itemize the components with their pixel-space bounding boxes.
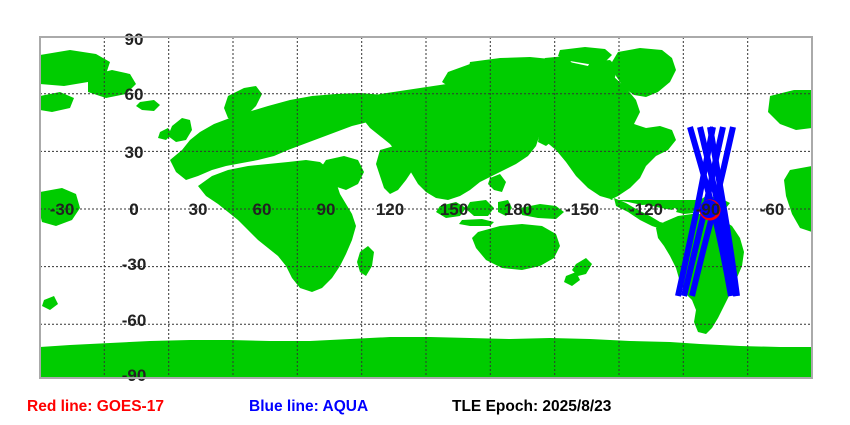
lon-label: -60 — [760, 200, 785, 219]
legend-blue-line: Blue line: AQUA — [249, 396, 368, 418]
lon-label: 90 — [317, 200, 336, 219]
lon-label: -30 — [50, 200, 75, 219]
lon-label: -90 — [696, 200, 721, 219]
lon-label: 180 — [504, 200, 532, 219]
lat-label: -60 — [122, 311, 147, 330]
lat-label: 0 — [129, 200, 138, 219]
world-map-svg: -30 0 30 60 90 120 150 180 -150 -120 -90… — [0, 0, 850, 425]
lat-label: 30 — [125, 143, 144, 162]
tle-epoch-label: TLE Epoch: — [452, 398, 542, 415]
tle-epoch-value: 2025/8/23 — [542, 398, 611, 415]
legend-blue-prefix: Blue line: — [249, 398, 323, 415]
lon-label: 120 — [376, 200, 404, 219]
lon-label: -150 — [565, 200, 599, 219]
legend-red-satellite: GOES-17 — [97, 398, 164, 415]
legend-tle-epoch: TLE Epoch: 2025/8/23 — [452, 396, 611, 418]
legend-blue-satellite: AQUA — [323, 398, 369, 415]
lon-label: 60 — [253, 200, 272, 219]
legend-red-line: Red line: GOES-17 — [27, 396, 164, 418]
lon-label: 150 — [440, 200, 468, 219]
legend-row: Red line: GOES-17 Blue line: AQUA TLE Ep… — [0, 396, 850, 422]
lat-label: 90 — [125, 30, 144, 49]
satellite-ground-track-map: -30 0 30 60 90 120 150 180 -150 -120 -90… — [0, 0, 850, 425]
lat-label: -30 — [122, 255, 147, 274]
legend-red-prefix: Red line: — [27, 398, 97, 415]
lat-label: -90 — [122, 366, 147, 385]
lat-label: 60 — [125, 85, 144, 104]
lon-label: -120 — [629, 200, 663, 219]
lon-label: 30 — [189, 200, 208, 219]
